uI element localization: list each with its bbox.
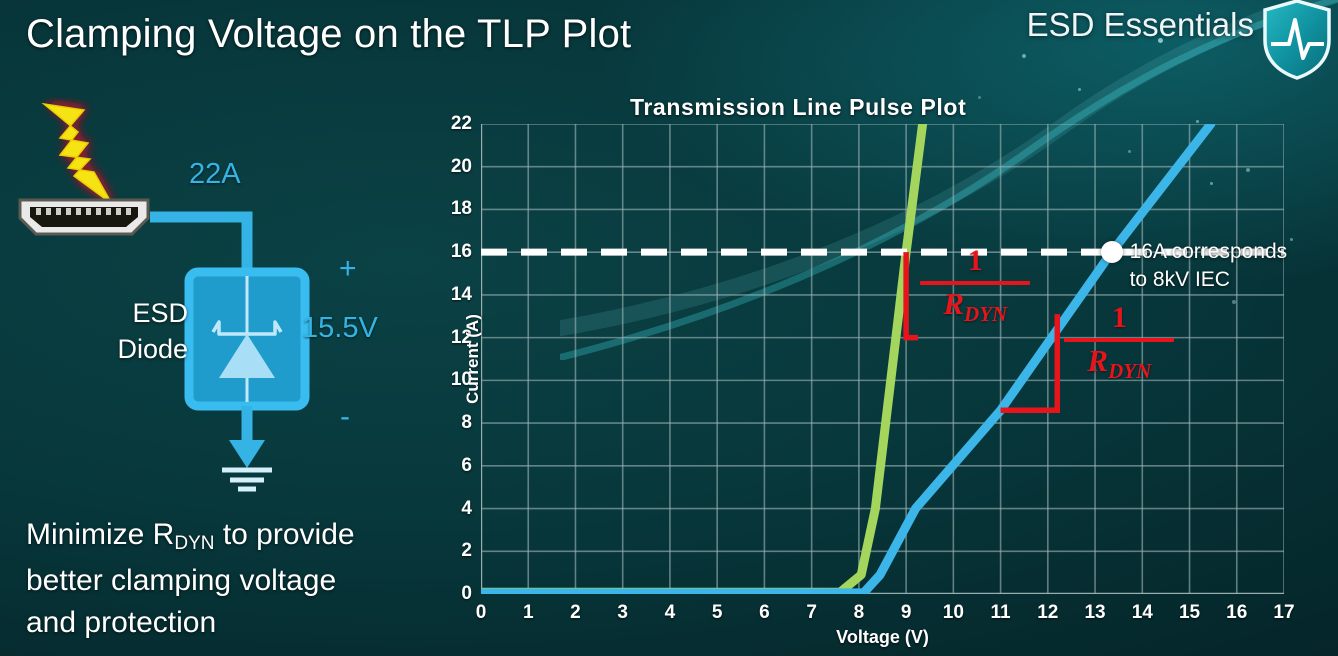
shield-heartbeat-icon: [1258, 0, 1336, 82]
y-tick-8: 8: [461, 412, 472, 434]
caption-line-2: better clamping voltage: [26, 560, 436, 602]
clamping-voltage-label: 15.5V: [302, 312, 378, 345]
caption-text: Minimize RDYN to provide better clamping…: [26, 514, 436, 644]
y-tick-18: 18: [451, 198, 472, 220]
x-tick-13: 13: [1084, 602, 1105, 624]
x-tick-10: 10: [943, 602, 964, 624]
x-tick-9: 9: [901, 602, 912, 624]
x-tick-12: 12: [1037, 602, 1058, 624]
tlp-chart: Transmission Line Pulse Plot 02468101214…: [420, 88, 1338, 656]
x-tick-8: 8: [854, 602, 865, 624]
y-tick-20: 20: [451, 156, 472, 178]
x-tick-15: 15: [1179, 602, 1200, 624]
x-tick-7: 7: [806, 602, 817, 624]
page-title: Clamping Voltage on the TLP Plot: [26, 12, 631, 57]
caption-line-3: and protection: [26, 602, 436, 644]
y-tick-2: 2: [461, 540, 472, 562]
slope-annotation-green-denominator: RDYN: [920, 288, 1030, 325]
esd-diode-label-line2: Diode: [100, 331, 188, 367]
caption-line-1: Minimize RDYN to provide: [26, 514, 436, 560]
caption-line1-pre: Minimize R: [26, 518, 174, 551]
y-tick-22: 22: [451, 113, 472, 135]
polarity-plus-label: +: [339, 254, 357, 284]
x-tick-0: 0: [476, 602, 487, 624]
slope-annotation-blue-label: 1 RDYN: [1064, 303, 1174, 382]
esd-diode-label-line1: ESD: [100, 295, 188, 331]
caption-line1-sub: DYN: [174, 533, 214, 554]
rdyn-r: R: [943, 286, 964, 321]
x-tick-14: 14: [1132, 602, 1153, 624]
rdyn-sub: DYN: [1108, 360, 1151, 384]
x-tick-6: 6: [759, 602, 770, 624]
x-axis-label: Voltage (V): [836, 627, 929, 648]
rdyn-sub: DYN: [964, 302, 1007, 326]
rdyn-r: R: [1087, 343, 1108, 378]
esd-diode-label: ESD Diode: [100, 295, 188, 367]
operating-point-note-line2: to 8kV IEC: [1130, 266, 1288, 294]
fraction-bar: [1064, 338, 1174, 342]
slope-annotation-green-label: 1 RDYN: [920, 246, 1030, 325]
brand-label: ESD Essentials: [1027, 6, 1254, 44]
slope-annotation-blue-numerator: 1: [1064, 303, 1174, 333]
fraction-bar: [920, 281, 1030, 285]
y-tick-0: 0: [461, 583, 472, 605]
x-tick-2: 2: [570, 602, 581, 624]
slide-canvas: Clamping Voltage on the TLP Plot ESD Ess…: [0, 0, 1338, 656]
plot-area: 0246810121416182022 01234567891011121314…: [481, 124, 1284, 594]
hdmi-connector-icon: [14, 196, 154, 238]
y-tick-14: 14: [451, 284, 472, 306]
x-tick-5: 5: [712, 602, 723, 624]
x-tick-11: 11: [991, 602, 1011, 624]
esd-circuit-diagram: 22A ESD Diode + 15.5V -: [0, 96, 420, 506]
x-tick-16: 16: [1226, 602, 1247, 624]
chart-title: Transmission Line Pulse Plot: [630, 94, 966, 121]
x-tick-1: 1: [523, 602, 534, 624]
x-tick-4: 4: [665, 602, 676, 624]
polarity-minus-label: -: [340, 402, 350, 432]
operating-point-note: 16A corresponds to 8kV IEC: [1130, 238, 1288, 294]
x-tick-3: 3: [617, 602, 628, 624]
y-tick-16: 16: [451, 241, 472, 263]
y-tick-6: 6: [461, 455, 472, 477]
caption-line1-post: to provide: [214, 518, 354, 551]
current-label: 22A: [189, 158, 241, 191]
slope-annotation-green-numerator: 1: [920, 246, 1030, 276]
operating-point-marker: [1101, 241, 1123, 263]
slope-annotation-blue-denominator: RDYN: [1064, 345, 1174, 382]
y-axis-label: Current (A): [463, 314, 483, 404]
operating-point-note-line1: 16A corresponds: [1130, 238, 1288, 266]
x-tick-17: 17: [1273, 602, 1294, 624]
y-tick-4: 4: [461, 498, 472, 520]
